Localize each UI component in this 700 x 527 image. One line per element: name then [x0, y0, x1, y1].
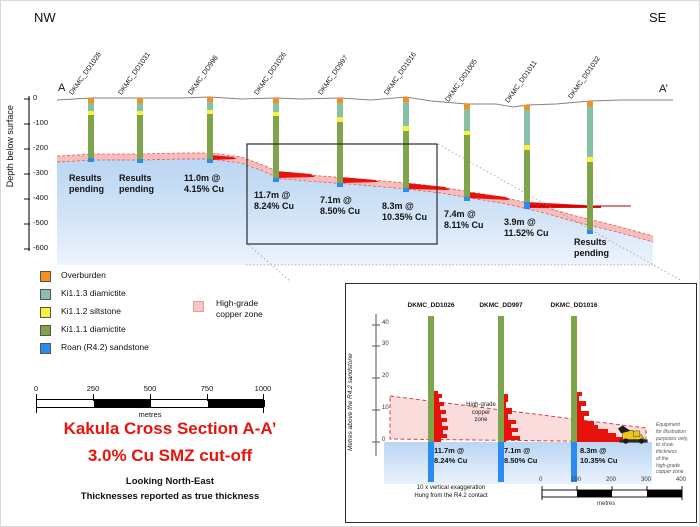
legend: Overburden Ki1.1.3 diamictite Ki1.1.2 si… [1, 1, 341, 401]
drill-hole-trace [464, 104, 470, 201]
inset-scale-bar [542, 486, 682, 500]
inset-grade-line-2: 8.50% Cu [504, 456, 537, 465]
scale-bar-tick [93, 394, 94, 401]
scale-bar-segment [94, 400, 151, 407]
legend-label-ki112-siltstone: Ki1.1.2 siltstone [61, 306, 121, 316]
inset-grade-dd997: 7.1m @8.50% Cu [504, 446, 537, 466]
figure-titles: Kakula Cross Section A-A’ 3.0% Cu SMZ cu… [1, 419, 339, 509]
inset-tick-label-0: 0 [382, 437, 385, 443]
drill-hole-trace [524, 105, 530, 209]
grade-annotation-dd1011: 3.9m @11.52% Cu [504, 217, 549, 240]
scale-bar-tick [207, 394, 208, 401]
scale-bar-label-0: 0 [34, 384, 38, 393]
inset-hole-label-dkmc-dd1026: DKMC_DD1026 [408, 302, 455, 309]
legend-swatch-roan-sandstone [40, 343, 51, 354]
legend-swatch-ki112-siltstone [40, 307, 51, 318]
inset-hole-label-dkmc-dd997: DKMC_DD997 [479, 302, 522, 309]
scale-bar-tick [263, 394, 264, 413]
inset-grade-line-2: 10.35% Cu [580, 456, 618, 465]
grade-line-1: Results [574, 237, 607, 247]
grade-line-2: 8.11% Cu [444, 220, 484, 230]
inset-grade-line-2: 8.24% Cu [434, 456, 467, 465]
grade-line-2: 11.52% Cu [504, 228, 549, 238]
inset-grade-line-1: 11.7m @ [434, 446, 464, 455]
inset-tick-label-10: 10 [382, 405, 389, 411]
scale-bar-label-250: 250 [87, 384, 100, 393]
figure-subtitle-line-2: Thicknesses reported as true thickness [1, 491, 339, 502]
inset-scale-label-400: 400 [676, 477, 686, 483]
scale-bar-label-750: 750 [201, 384, 214, 393]
inset-grade-dd1026: 11.7m @8.24% Cu [434, 446, 467, 466]
legend-label-overburden: Overburden [61, 270, 106, 280]
inset-scale-label-100: 100 [571, 477, 581, 483]
hgz-label-line-2: copper zone [216, 309, 263, 319]
grade-line-2: pending [574, 248, 609, 258]
grade-line-1: 3.9m @ [504, 217, 536, 227]
scale-bar-tick [36, 394, 37, 413]
section-end-label: A’ [659, 83, 668, 96]
drill-hole-trace [587, 101, 593, 234]
grade-annotation-dd1016: 8.3m @10.35% Cu [382, 201, 427, 224]
inset-vertical-exaggeration-note: 10 x vertical exaggeration Hung from the… [376, 484, 526, 500]
scale-bar-label-1000: 1000 [255, 384, 272, 393]
inset-grade-line-1: 8.3m @ [580, 446, 607, 455]
legend-swatch-ki113-diamictite [40, 289, 51, 300]
inset-tick-label-30: 30 [382, 341, 389, 347]
scale-bar: 0 250 500 750 1000 metres [36, 387, 286, 419]
grade-annotation-dd1005: 7.4m @8.11% Cu [444, 209, 484, 232]
legend-swatch-overburden [40, 271, 51, 282]
inset-grade-dd1016: 8.3m @10.35% Cu [580, 446, 618, 466]
inset-detail-panel: Metres above the R4.2 sandstone 0 10 20 … [345, 283, 697, 523]
inset-grade-line-1: 7.1m @ [504, 446, 531, 455]
scale-bar-caption: metres [139, 410, 162, 419]
inset-scale-label-300: 300 [641, 477, 651, 483]
inset-high-grade-zone-label: High-grade copper zone [451, 402, 511, 425]
inset-hole-label-dkmc-dd1016: DKMC_DD1016 [551, 302, 598, 309]
scale-bar-segment [208, 400, 265, 407]
inset-scale-caption: metres [597, 501, 615, 507]
grade-line-1: 8.3m @ [382, 201, 414, 211]
equipment-illustration-note: Equipment for illustration purposes only… [656, 422, 700, 476]
figure-title-line-1: Kakula Cross Section A-A’ [1, 419, 339, 439]
legend-label-high-grade-copper-zone: High-gradecopper zone [216, 298, 263, 321]
legend-label-ki111-diamictite: Ki1.1.1 diamictite [61, 324, 126, 334]
scale-bar-tick [150, 394, 151, 401]
inset-scale-label-200: 200 [606, 477, 616, 483]
grade-line-2: 10.35% Cu [382, 212, 427, 222]
legend-label-ki113-diamictite: Ki1.1.3 diamictite [61, 288, 126, 298]
inset-tick-label-40: 40 [382, 320, 389, 326]
figure-title-line-2: 3.0% Cu SMZ cut-off [1, 446, 339, 466]
figure-subtitle-line-1: Looking North-East [1, 476, 339, 487]
grade-line-1: 7.4m @ [444, 209, 476, 219]
legend-swatch-high-grade-copper-zone [193, 301, 204, 312]
legend-label-roan-sandstone: Roan (R4.2) sandstone [61, 342, 149, 352]
grade-annotation-dd1032: Resultspending [574, 237, 609, 260]
inset-tick-label-20: 20 [382, 373, 389, 379]
hgz-label-line-1: High-grade [216, 298, 258, 308]
scale-bar-label-500: 500 [144, 384, 157, 393]
inset-scale-label-0: 0 [539, 477, 542, 483]
legend-swatch-ki111-diamictite [40, 325, 51, 336]
cross-section-figure: NW SE [0, 0, 700, 527]
inset-axis-title: Metres above the R4.2 sandstone [347, 353, 354, 451]
